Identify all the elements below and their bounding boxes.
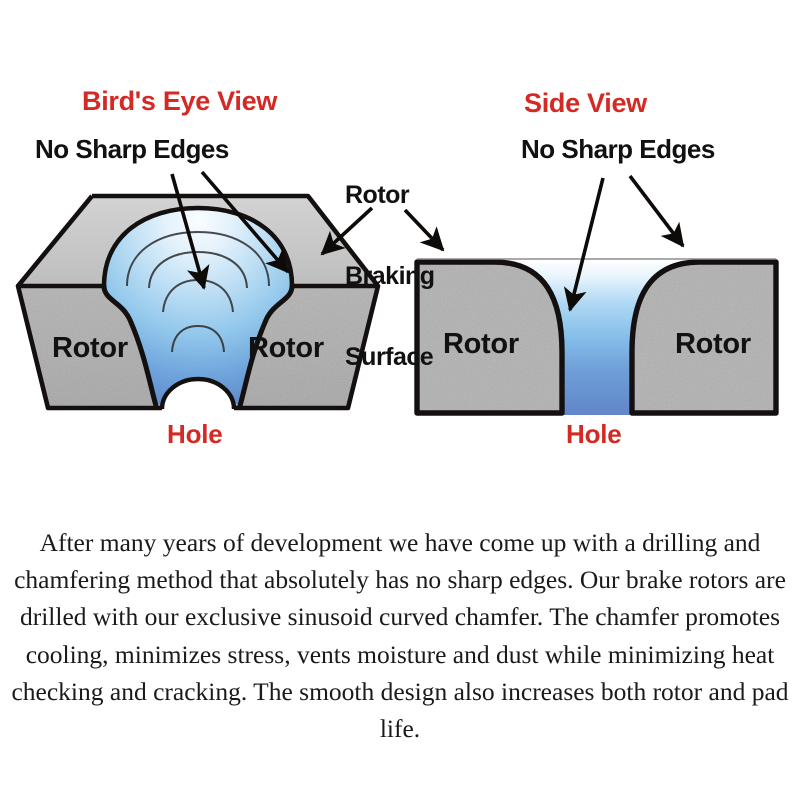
description-paragraph: After many years of development we have … <box>8 524 792 747</box>
birds-eye-view-group <box>18 172 378 409</box>
side-view-title: Side View <box>524 90 647 118</box>
birds-eye-rotor-right-label: Rotor <box>248 334 324 364</box>
side-rotor-left-label: Rotor <box>443 330 519 360</box>
birds-eye-no-sharp-edges-label: No Sharp Edges <box>35 136 229 163</box>
braking-surface-line-3: Surface <box>345 344 435 371</box>
illustration-canvas: Bird's Eye View No Sharp Edges Rotor Bra… <box>0 0 800 800</box>
birds-eye-title: Bird's Eye View <box>82 88 277 116</box>
arrow-side-no-sharp-edges-right <box>630 176 683 246</box>
side-rotor-right-label: Rotor <box>675 330 751 360</box>
side-view-group <box>405 176 776 415</box>
side-view-no-sharp-edges-label: No Sharp Edges <box>521 136 715 163</box>
braking-surface-line-2: Braking <box>345 263 435 290</box>
side-hole-label: Hole <box>566 421 622 448</box>
rotor-braking-surface-label: Rotor Braking Surface <box>345 128 435 425</box>
birds-eye-hole-label: Hole <box>167 421 223 448</box>
birds-eye-rotor-left-label: Rotor <box>52 334 128 364</box>
braking-surface-line-1: Rotor <box>345 182 435 209</box>
